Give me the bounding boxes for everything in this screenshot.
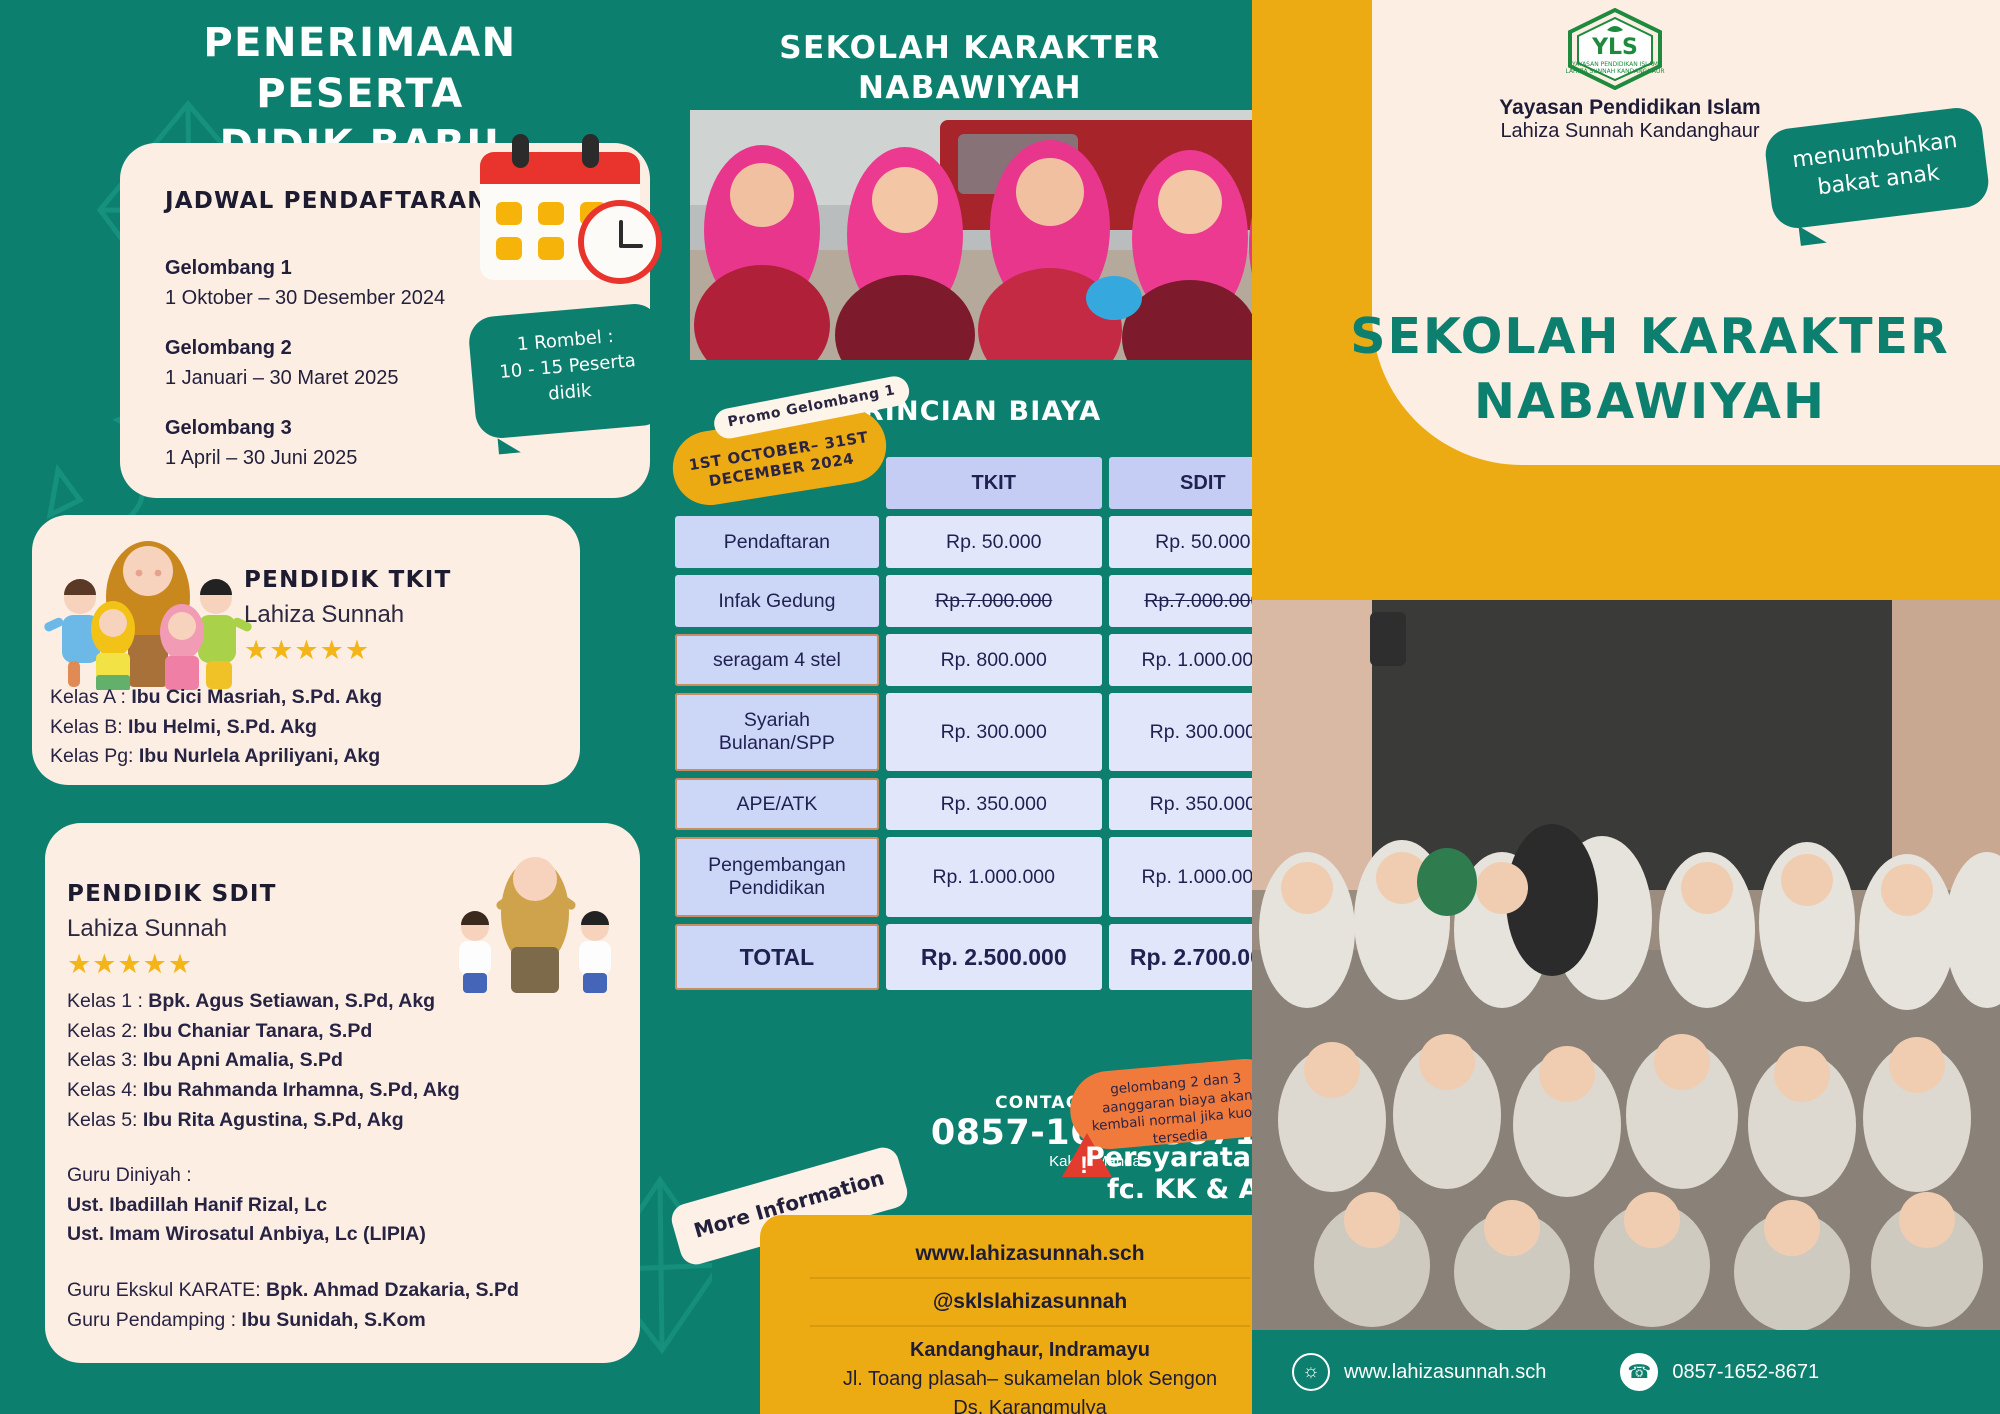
middle-headline-line-2: NABAWIYAH [740, 68, 1200, 108]
middle-headline-line-1: SEKOLAH KARAKTER [740, 28, 1200, 68]
fee-table: TKIT SDIT Pendaftaran Rp. 50.000 Rp. 50.… [668, 450, 1304, 997]
tkit-teacher-2-name: Ibu Helmi, S.Pd. Akg [128, 716, 317, 738]
footer-website-text: www.lahizasunnah.sch [1344, 1361, 1546, 1384]
footer-contact-block: www.lahizasunnah.sch @sklslahizasunnah K… [760, 1215, 1300, 1414]
wave-2-name: Gelombang 2 [165, 333, 399, 363]
middle-headline: SEKOLAH KARAKTER NABAWIYAH [740, 28, 1200, 109]
pendamping-row: Guru Pendamping : Ibu Sunidah, S.Kom [67, 1306, 627, 1336]
tkit-teacher-3-label: Kelas Pg: [50, 745, 139, 767]
footer-phone-item[interactable]: ☎ 0857-1652-8671 [1620, 1353, 1819, 1391]
table-row: Infak Gedung Rp.7.000.000 Rp.7.000.000 [675, 575, 1297, 627]
schedule-title: JADWAL PENDAFTARAN [165, 188, 488, 214]
right-title-line-1: SEKOLAH KARAKTER [1330, 305, 1970, 370]
students-photo-middle [690, 110, 1310, 360]
teacher-and-kids-illustration [40, 525, 255, 690]
sdit-teacher-5-label: Kelas 5: [67, 1109, 143, 1131]
sdit-teacher-2-label: Kelas 2: [67, 1020, 143, 1042]
tkit-teachers-card: PENDIDIK TKIT Lahiza Sunnah ★★★★★ Kelas … [32, 515, 580, 785]
tkit-teacher-1-name: Ibu Cici Masriah, S.Pd. Akg [131, 686, 382, 708]
sdit-teacher-1-name: Bpk. Agus Setiawan, S.Pd, Akg [148, 990, 435, 1012]
sdit-teacher-row: Kelas 4: Ibu Rahmanda Irhamna, S.Pd, Akg [67, 1076, 627, 1106]
table-row: Syariah Bulanan/SPP Rp. 300.000 Rp. 300.… [675, 693, 1297, 771]
sdit-teacher-4-label: Kelas 4: [67, 1079, 143, 1101]
tkit-rating-stars: ★★★★★ [244, 635, 370, 666]
diniyah-teacher-2: Ust. Imam Wirosatul Anbiya, Lc (LIPIA) [67, 1223, 426, 1245]
total-label: TOTAL [675, 924, 879, 990]
svg-text:YAYASAN PENDIDIKAN ISLAM: YAYASAN PENDIDIKAN ISLAM [1571, 61, 1658, 68]
wave-3-name: Gelombang 3 [165, 413, 357, 443]
fee-item-label: Pendaftaran [675, 516, 879, 568]
tkit-subtitle: Lahiza Sunnah [244, 601, 404, 629]
sdit-teacher-row: Kelas 2: Ibu Chaniar Tanara, S.Pd [67, 1017, 627, 1047]
karate-name: Bpk. Ahmad Dzakaria, S.Pd [266, 1279, 519, 1301]
sdit-teacher-5-name: Ibu Rita Agustina, S.Pd, Akg [143, 1109, 404, 1131]
yls-logo: YLS YAYASAN PENDIDIKAN ISLAM LAHIZA SUNN… [1565, 8, 1665, 90]
footer-instagram[interactable]: @sklslahizasunnah [780, 1279, 1280, 1325]
diniyah-label: Guru Diniyah : [67, 1161, 627, 1191]
karate-label: Guru Ekskul KARATE: [67, 1279, 266, 1301]
tkit-teacher-row: Kelas Pg: Ibu Nurlela Apriliyani, Akg [50, 742, 570, 772]
pendamping-name: Ibu Sunidah, S.Kom [242, 1309, 426, 1331]
table-total-row: TOTAL Rp. 2.500.000 Rp. 2.700.000 [675, 924, 1297, 990]
svg-text:YLS: YLS [1591, 35, 1638, 60]
sdit-teacher-3-label: Kelas 3: [67, 1049, 143, 1071]
fee-item-label: Pengembangan Pendidikan [675, 837, 879, 917]
fee-tkit-value: Rp. 50.000 [886, 516, 1102, 568]
sdit-teacher-4-name: Ibu Rahmanda Irhamna, S.Pd, Akg [143, 1079, 460, 1101]
clock-icon [578, 200, 662, 284]
right-main-title: SEKOLAH KARAKTER NABAWIYAH [1330, 305, 1970, 434]
phone-icon: ☎ [1620, 1353, 1658, 1391]
rombel-bubble: 1 Rombel : 10 - 15 Peserta didik [467, 302, 669, 440]
tkit-title: PENDIDIK TKIT [244, 567, 452, 593]
svg-text:LAHIZA SUNNAH KANDANGHAUR: LAHIZA SUNNAH KANDANGHAUR [1565, 68, 1664, 75]
table-row: Pengembangan Pendidikan Rp. 1.000.000 Rp… [675, 837, 1297, 917]
right-title-line-2: NABAWIYAH [1330, 370, 1970, 435]
calendar-icon [470, 140, 675, 290]
address-line-3: Ds. Karangmulya [780, 1394, 1280, 1414]
headline-line-1: PENERIMAAN PESERTA [100, 18, 620, 120]
total-tkit-value: Rp. 2.500.000 [886, 924, 1102, 990]
brochure-page: PENERIMAAN PESERTA DIDIK BARU JADWAL PEN… [0, 0, 2000, 1414]
fee-tkit-value: Rp. 800.000 [886, 634, 1102, 686]
table-header-row: TKIT SDIT [675, 457, 1297, 509]
fee-item-label: Syariah Bulanan/SPP [675, 693, 879, 771]
sdit-teacher-3-name: Ibu Apni Amalia, S.Pd [143, 1049, 343, 1071]
footer-website-item[interactable]: ☼ www.lahizasunnah.sch [1292, 1353, 1546, 1391]
address-line-1: Kandanghaur, Indramayu [780, 1336, 1280, 1365]
table-row: seragam 4 stel Rp. 800.000 Rp. 1.000.000 [675, 634, 1297, 686]
wave-3-dates: 1 April – 30 Juni 2025 [165, 443, 357, 473]
sdit-teacher-row: Kelas 3: Ibu Apni Amalia, S.Pd [67, 1046, 627, 1076]
fee-item-label: APE/ATK [675, 778, 879, 830]
sdit-subtitle: Lahiza Sunnah [67, 915, 227, 943]
group-photo-right [1252, 600, 2000, 1330]
sdit-title: PENDIDIK SDIT [67, 881, 277, 907]
sdit-teachers-card: PENDIDIK SDIT Lahiza Sunnah ★★★★★ Kelas … [45, 823, 640, 1363]
sdit-teacher-1-label: Kelas 1 : [67, 990, 148, 1012]
fee-tkit-value: Rp. 300.000 [886, 693, 1102, 771]
karate-row: Guru Ekskul KARATE: Bpk. Ahmad Dzakaria,… [67, 1276, 627, 1306]
table-row: Pendaftaran Rp. 50.000 Rp. 50.000 [675, 516, 1297, 568]
footer-website[interactable]: www.lahizasunnah.sch [780, 1231, 1280, 1277]
wave-1: Gelombang 1 1 Oktober – 30 Desember 2024 [165, 253, 445, 313]
teacher-with-students-illustration [445, 835, 630, 995]
wave-3: Gelombang 3 1 April – 30 Juni 2025 [165, 413, 357, 473]
sdit-teacher-2-name: Ibu Chaniar Tanara, S.Pd [143, 1020, 372, 1042]
sdit-teacher-row: Kelas 1 : Bpk. Agus Setiawan, S.Pd, Akg [67, 987, 627, 1017]
tkit-teacher-row: Kelas A : Ibu Cici Masriah, S.Pd. Akg [50, 683, 570, 713]
footer-phone-text: 0857-1652-8671 [1672, 1361, 1819, 1384]
sdit-teacher-row: Kelas 5: Ibu Rita Agustina, S.Pd, Akg [67, 1106, 627, 1136]
fee-tkit-value: Rp. 350.000 [886, 778, 1102, 830]
left-panel: PENERIMAAN PESERTA DIDIK BARU JADWAL PEN… [0, 0, 712, 1414]
wave-2-dates: 1 Januari – 30 Maret 2025 [165, 363, 399, 393]
tkit-teacher-1-label: Kelas A : [50, 686, 131, 708]
table-row: APE/ATK Rp. 350.000 Rp. 350.000 [675, 778, 1297, 830]
tkit-teacher-3-name: Ibu Nurlela Apriliyani, Akg [139, 745, 380, 767]
wave-1-dates: 1 Oktober – 30 Desember 2024 [165, 283, 445, 313]
tkit-teacher-2-label: Kelas B: [50, 716, 128, 738]
wave-1-name: Gelombang 1 [165, 253, 445, 283]
foundation-line-1: Yayasan Pendidikan Islam [1400, 96, 1860, 120]
fee-item-label: Infak Gedung [675, 575, 879, 627]
right-footer-bar: ☼ www.lahizasunnah.sch ☎ 0857-1652-8671 [1252, 1330, 2000, 1414]
address-line-2: Jl. Toang plasah– sukamelan blok Sengon [780, 1365, 1280, 1394]
wave-2: Gelombang 2 1 Januari – 30 Maret 2025 [165, 333, 399, 393]
sdit-rating-stars: ★★★★★ [67, 949, 193, 980]
diniyah-teacher-1: Ust. Ibadillah Hanif Rizal, Lc [67, 1194, 327, 1216]
pendamping-label: Guru Pendamping : [67, 1309, 242, 1331]
fee-tkit-value: Rp. 1.000.000 [886, 837, 1102, 917]
column-header-tkit: TKIT [886, 457, 1102, 509]
fee-tkit-value: Rp.7.000.000 [886, 575, 1102, 627]
tkit-teacher-row: Kelas B: Ibu Helmi, S.Pd. Akg [50, 713, 570, 743]
globe-icon: ☼ [1292, 1353, 1330, 1391]
fee-item-label: seragam 4 stel [675, 634, 879, 686]
